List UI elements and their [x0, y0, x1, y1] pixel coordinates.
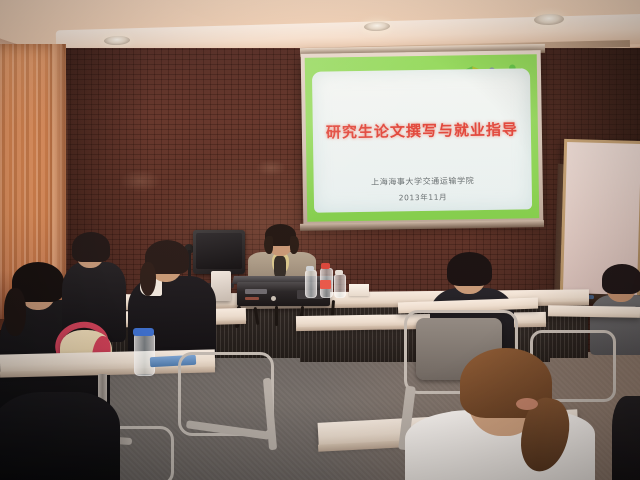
presenter-hair-side [264, 236, 273, 254]
water-bottle [134, 334, 155, 376]
slide-background: 研究生论文撰写与就业指导 上海海事大学交通运输学院 2013年11月 [305, 54, 540, 222]
slide-title: 研究生论文撰写与就业指导 [313, 118, 531, 142]
audience-ponytail [4, 288, 26, 336]
bottle-cap [133, 328, 154, 336]
paper-stack [349, 284, 369, 296]
audience-hair [447, 252, 492, 286]
bottle-cap [335, 270, 343, 275]
water-bottle [334, 274, 346, 298]
bottle-cap [321, 263, 330, 269]
presenter-inner-top [274, 256, 286, 278]
pc-panel-strip [245, 297, 259, 300]
monitor-screen [196, 233, 242, 269]
hair-tie [516, 398, 538, 410]
slide-content-panel: 研究生论文撰写与就业指导 上海海事大学交通运输学院 2013年11月 [312, 68, 532, 212]
photo-scene: 研究生论文撰写与就业指导 上海海事大学交通运输学院 2013年11月 [0, 0, 640, 480]
bottle-cap [306, 266, 314, 271]
pc-power-button[interactable] [271, 296, 276, 301]
audience-hair [72, 232, 110, 262]
wall-highlight [256, 160, 286, 176]
bottle-label [320, 280, 331, 289]
audience-hair [602, 264, 640, 294]
audience-torso [612, 396, 640, 480]
right-desk-top-2 [548, 305, 640, 318]
slide-date: 2013年11月 [314, 190, 532, 204]
audience-ponytail [140, 262, 156, 296]
water-bottle [305, 270, 317, 298]
projection-screen: 研究生论文撰写与就业指导 上海海事大学交通运输学院 2013年11月 [301, 50, 544, 226]
slide-organization: 上海海事大学交通运输学院 [314, 174, 532, 188]
cable [275, 306, 278, 326]
audience-torso [0, 392, 120, 480]
pc-drive-slot [245, 289, 267, 294]
